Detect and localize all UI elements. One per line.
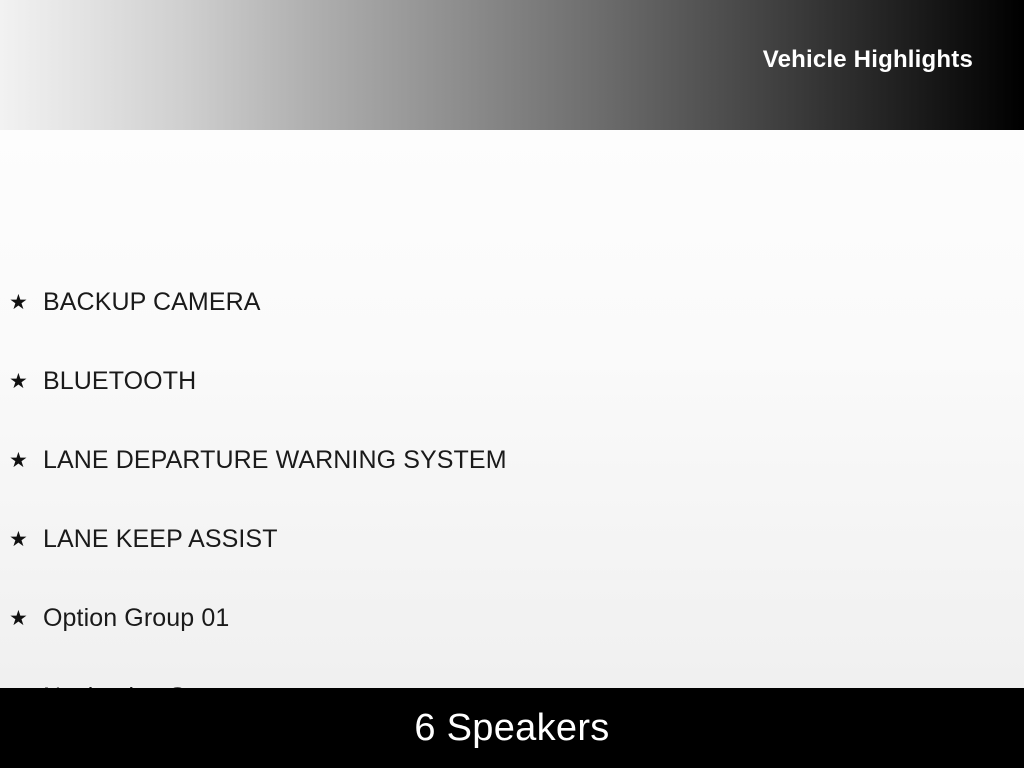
list-item: ★ LANE KEEP ASSIST <box>0 519 1024 559</box>
list-item-label: LANE KEEP ASSIST <box>43 524 278 554</box>
page-title: Vehicle Highlights <box>763 45 973 75</box>
star-icon: ★ <box>9 450 33 471</box>
star-icon: ★ <box>9 292 33 313</box>
list-item-label: LANE DEPARTURE WARNING SYSTEM <box>43 445 507 475</box>
footer-label: 6 Speakers <box>414 706 609 750</box>
vehicle-highlights-list: ★ BACKUP CAMERA ★ BLUETOOTH ★ LANE DEPAR… <box>0 130 1024 688</box>
footer-banner: 6 Speakers <box>0 688 1024 768</box>
star-icon: ★ <box>9 608 33 629</box>
vehicle-highlights-panel: Vehicle Highlights ★ BACKUP CAMERA ★ BLU… <box>0 0 1024 768</box>
list-item: ★ Option Group 01 <box>0 598 1024 638</box>
list-item: ★ LANE DEPARTURE WARNING SYSTEM <box>0 440 1024 480</box>
list-item-label: BLUETOOTH <box>43 366 196 396</box>
highlights-body: ★ BACKUP CAMERA ★ BLUETOOTH ★ LANE DEPAR… <box>0 130 1024 688</box>
star-icon: ★ <box>9 371 33 392</box>
list-item-label: Option Group 01 <box>43 603 229 633</box>
header-banner: Vehicle Highlights <box>0 0 1024 130</box>
list-item: ★ BACKUP CAMERA <box>0 282 1024 322</box>
star-icon: ★ <box>9 529 33 550</box>
list-item: ★ BLUETOOTH <box>0 361 1024 401</box>
list-item-label: BACKUP CAMERA <box>43 287 261 317</box>
